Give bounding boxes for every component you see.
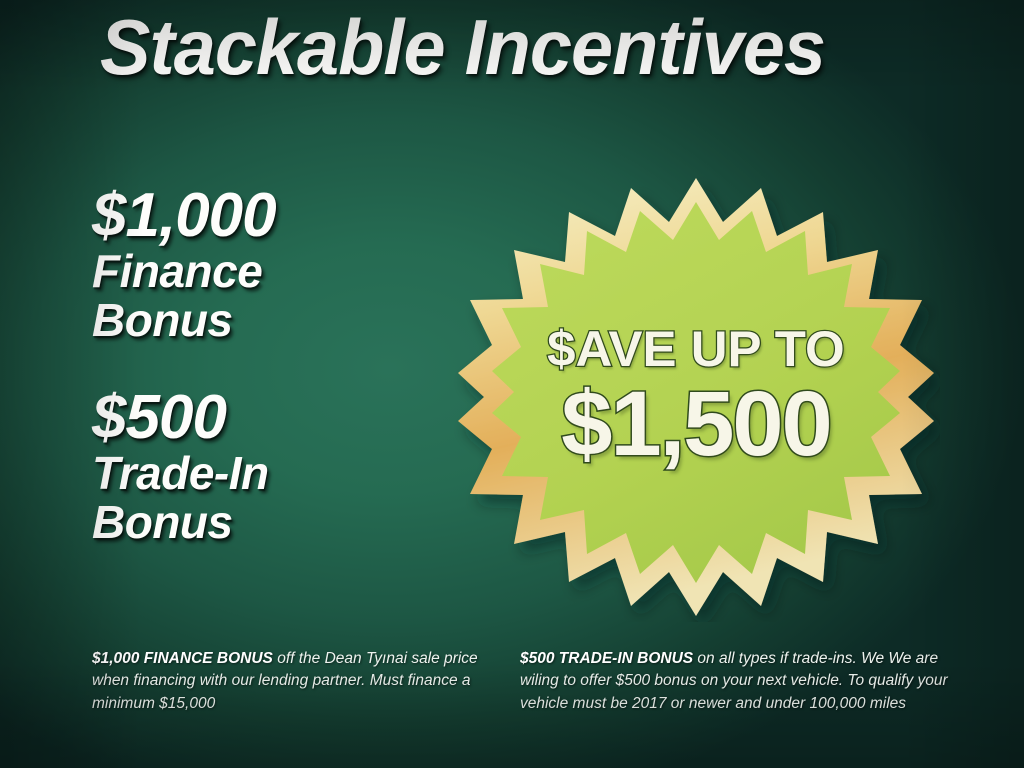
disclaimer-trade-in-lead: $500 TRADE-IN BONUS (520, 650, 693, 667)
offer-finance-amount: $1,000 (92, 186, 432, 247)
offer-trade-in: $500 Trade-In Bonus (92, 388, 432, 546)
promo-poster: Stackable Incentives $1,000 Finance Bonu… (0, 0, 1024, 768)
disclaimer-trade-in: $500 TRADE-IN BONUS on all types if trad… (520, 648, 960, 715)
offer-finance-label-line2: Bonus (92, 296, 432, 345)
starburst-icon (452, 172, 940, 622)
page-title: Stackable Incentives (100, 8, 825, 86)
disclaimer-row: $1,000 FINANCE BONUS off the Dean Tyınai… (92, 648, 972, 715)
offer-list: $1,000 Finance Bonus $500 Trade-In Bonus (92, 186, 432, 547)
disclaimer-finance-lead: $1,000 FINANCE BONUS (92, 650, 273, 667)
offer-finance-label-line1: Finance (92, 247, 432, 296)
offer-finance: $1,000 Finance Bonus (92, 186, 432, 344)
disclaimer-finance: $1,000 FINANCE BONUS off the Dean Tyınai… (92, 648, 496, 715)
offer-trade-in-amount: $500 (92, 388, 432, 449)
offer-trade-in-label-line1: Trade-In (92, 449, 432, 498)
offer-trade-in-label-line2: Bonus (92, 498, 432, 547)
savings-starburst-badge: $AVE UP TO $1,500 (452, 172, 940, 622)
